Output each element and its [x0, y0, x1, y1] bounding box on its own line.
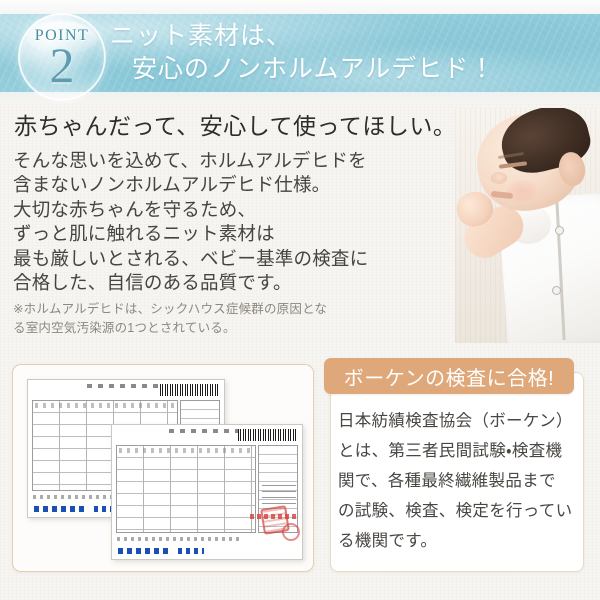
- footnote: ※ホルムアルデヒドは、シックハウス症候群の原因とな る室内空気汚染源の1つとされ…: [13, 300, 327, 338]
- body-line: 合格した、自信のある品質です。: [13, 272, 368, 296]
- footnote-line: る室内空気汚染源の1つとされている。: [13, 319, 327, 338]
- info-panel-text: 日本紡績検査協会（ボーケン） とは、第三者民間試験・検査機 関で、各種最終繊維製…: [338, 406, 576, 556]
- document-blue-text: [34, 506, 86, 512]
- document-side-text: [262, 485, 296, 507]
- document-table: [116, 445, 256, 533]
- body-line: 大切な赤ちゃんを守るため、: [13, 199, 368, 223]
- header-title-line1: ニット素材は、: [110, 20, 590, 53]
- certification-banner: ボーケンの検査に合格!: [324, 358, 574, 394]
- baby-nose: [491, 172, 507, 184]
- footnote-line: ※ホルムアルデヒドは、シックハウス症候群の原因とな: [13, 300, 327, 319]
- body-copy: そんな思いを込めて、ホルムアルデヒドを 含まないノンホルムアルデヒド仕様。 大切…: [13, 150, 368, 296]
- info-line: る機関です。: [338, 526, 576, 556]
- body-line: そんな思いを込めて、ホルムアルデヒドを: [13, 150, 368, 174]
- baby-cheek: [507, 180, 537, 202]
- onesie-button: [555, 226, 564, 235]
- body-line: 最も厳しいとされる、ベビー基準の検査に: [13, 248, 368, 272]
- info-line: の試験、検査、検定を行ってい: [338, 496, 576, 526]
- barcode-icon: [238, 429, 298, 441]
- certificate-card: [12, 364, 314, 572]
- body-line: ずっと肌に触れるニット素材は: [13, 223, 368, 247]
- info-line: 日本紡績検査協会（ボーケン）: [338, 406, 576, 436]
- barcode-icon: [160, 384, 220, 396]
- red-seal-icon: [282, 523, 300, 541]
- document-footnote: [117, 537, 239, 541]
- document-blue-text: [178, 548, 204, 554]
- header-bottom-fade: [0, 92, 600, 104]
- info-line: とは、第三者民間試験・検査機: [338, 436, 576, 466]
- document-blue-text: [118, 548, 170, 554]
- certificate-document-back: [111, 424, 303, 560]
- body-line: 含まないノンホルムアルデヒド仕様。: [13, 174, 368, 198]
- badge-point-number: 2: [18, 39, 106, 91]
- point-badge: POINT 2: [18, 19, 110, 93]
- info-line: 関で、各種最終繊維製品まで: [338, 466, 576, 496]
- top-edge-strip: [0, 0, 600, 14]
- baby-photo: [455, 108, 600, 343]
- onesie-button: [552, 286, 561, 295]
- lead-headline: 赤ちゃんだって、安心して使ってほしい。: [14, 112, 456, 142]
- header-title-line2: 安心のノンホルムアルデヒド！: [110, 53, 590, 86]
- header-title: ニット素材は、 安心のノンホルムアルデヒド！: [110, 20, 590, 86]
- promo-page: POINT 2 ニット素材は、 安心のノンホルムアルデヒド！ 赤ちゃんだって、安…: [0, 0, 600, 600]
